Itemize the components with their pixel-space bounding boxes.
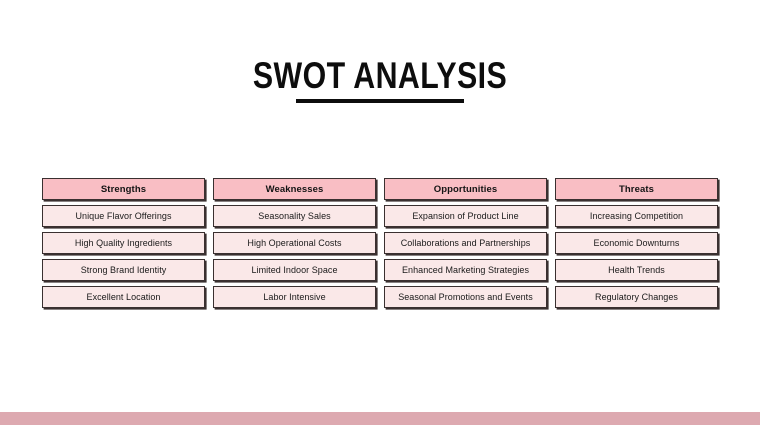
title-block: SWOT ANALYSIS [0, 57, 760, 103]
swot-item: High Operational Costs [213, 232, 376, 254]
swot-item: Expansion of Product Line [384, 205, 547, 227]
swot-item: Collaborations and Partnerships [384, 232, 547, 254]
page-title: SWOT ANALYSIS [253, 57, 507, 94]
swot-item: Unique Flavor Offerings [42, 205, 205, 227]
column-header-opportunities: Opportunities [384, 178, 547, 200]
column-header-threats: Threats [555, 178, 718, 200]
swot-item: Labor Intensive [213, 286, 376, 308]
title-underline [296, 99, 464, 103]
swot-column-threats: Threats Increasing Competition Economic … [555, 178, 718, 308]
swot-item: Regulatory Changes [555, 286, 718, 308]
swot-item: Strong Brand Identity [42, 259, 205, 281]
column-header-strengths: Strengths [42, 178, 205, 200]
swot-item: High Quality Ingredients [42, 232, 205, 254]
swot-item: Enhanced Marketing Strategies [384, 259, 547, 281]
swot-item: Excellent Location [42, 286, 205, 308]
swot-item: Limited Indoor Space [213, 259, 376, 281]
swot-item: Economic Downturns [555, 232, 718, 254]
swot-item: Health Trends [555, 259, 718, 281]
swot-column-strengths: Strengths Unique Flavor Offerings High Q… [42, 178, 205, 308]
column-header-weaknesses: Weaknesses [213, 178, 376, 200]
swot-column-opportunities: Opportunities Expansion of Product Line … [384, 178, 547, 308]
swot-column-weaknesses: Weaknesses Seasonality Sales High Operat… [213, 178, 376, 308]
swot-item: Increasing Competition [555, 205, 718, 227]
slide-canvas: SWOT ANALYSIS Strengths Unique Flavor Of… [0, 0, 760, 425]
swot-item: Seasonality Sales [213, 205, 376, 227]
swot-matrix: Strengths Unique Flavor Offerings High Q… [42, 178, 718, 308]
swot-item: Seasonal Promotions and Events [384, 286, 547, 308]
bottom-accent-bar [0, 412, 760, 425]
